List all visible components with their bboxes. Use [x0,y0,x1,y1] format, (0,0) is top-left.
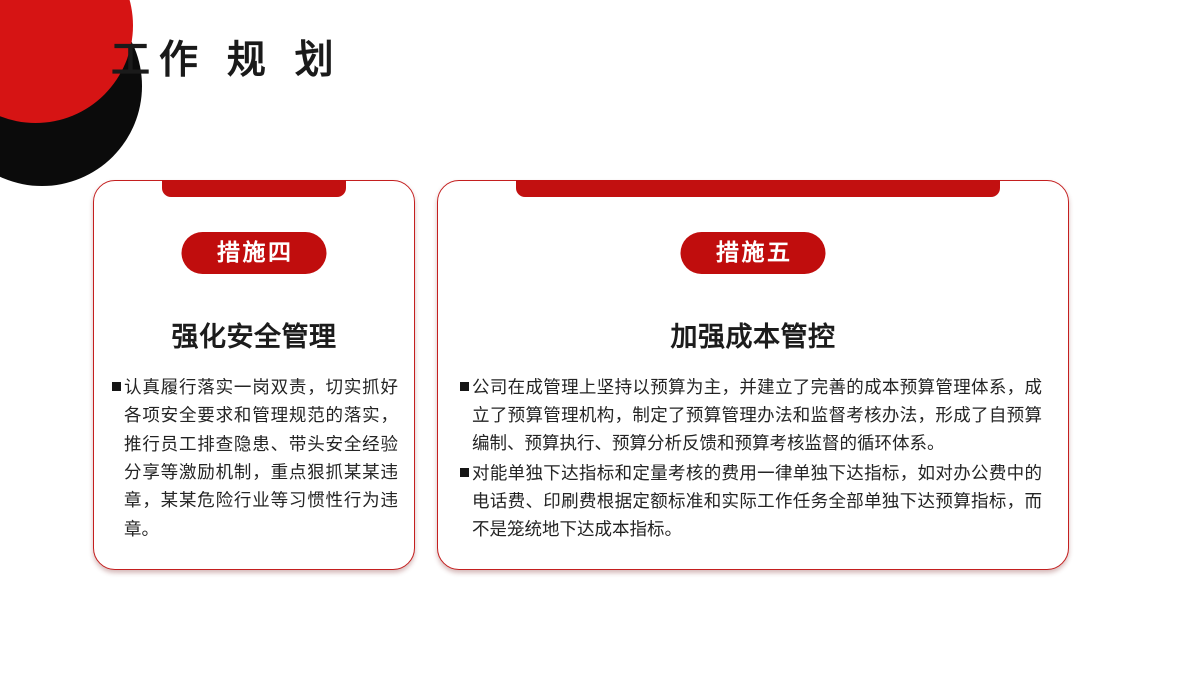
measure-cards-container: 措施四 强化安全管理 认真履行落实一岗双责，切实抓好各项安全要求和管理规范的落实… [0,0,1200,680]
card-top-tab [162,180,346,197]
card-heading: 加强成本管控 [438,321,1068,353]
card-badge-label: 措施五 [681,232,826,274]
list-item-text: 对能单独下达指标和定量考核的费用一律单独下达指标，如对办公费中的电话费、印刷费根… [472,459,1042,543]
square-bullet-icon [460,468,469,477]
card-body: 公司在成管理上坚持以预算为主，并建立了完善的成本预算管理体系，成立了预算管理机构… [438,373,1068,545]
card-heading: 强化安全管理 [94,321,414,353]
page-title: 工作 规 划 [111,38,343,85]
list-item: 认真履行落实一岗双责，切实抓好各项安全要求和管理规范的落实，推行员工排查隐患、带… [112,373,398,543]
list-item-text: 认真履行落实一岗双责，切实抓好各项安全要求和管理规范的落实，推行员工排查隐患、带… [124,373,398,543]
list-item-text: 公司在成管理上坚持以预算为主，并建立了完善的成本预算管理体系，成立了预算管理机构… [472,373,1042,457]
card-badge-label: 措施四 [182,232,327,274]
square-bullet-icon [460,382,469,391]
card-body: 认真履行落实一岗双责，切实抓好各项安全要求和管理规范的落实，推行员工排查隐患、带… [94,373,414,545]
square-bullet-icon [112,382,121,391]
measure-card-5: 措施五 加强成本管控 公司在成管理上坚持以预算为主，并建立了完善的成本预算管理体… [437,180,1069,570]
measure-card-4: 措施四 强化安全管理 认真履行落实一岗双责，切实抓好各项安全要求和管理规范的落实… [93,180,415,570]
list-item: 对能单独下达指标和定量考核的费用一律单独下达指标，如对办公费中的电话费、印刷费根… [460,459,1042,543]
list-item: 公司在成管理上坚持以预算为主，并建立了完善的成本预算管理体系，成立了预算管理机构… [460,373,1042,457]
card-top-tab [516,180,1000,197]
